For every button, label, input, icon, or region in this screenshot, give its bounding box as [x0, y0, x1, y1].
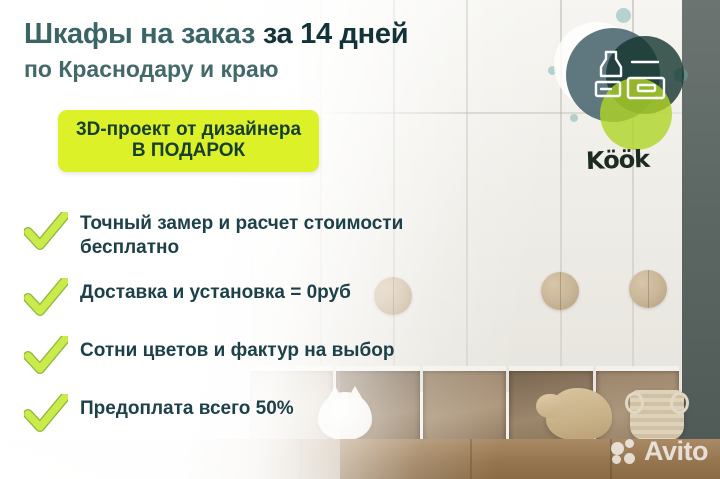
decorative-dot	[570, 114, 578, 122]
logo-wordmark: Köök	[586, 145, 650, 175]
headline-main: Шкафы на заказ	[24, 18, 263, 50]
avito-watermark: Avito	[611, 438, 708, 465]
advertisement-banner: Шкафы на заказ за 14 дней по Краснодару …	[0, 0, 720, 479]
decorative-dot	[616, 8, 631, 23]
headline-accent: за 14 дней	[263, 18, 408, 50]
list-item: Предоплата всего 50%	[24, 394, 494, 436]
avito-label: Avito	[644, 438, 708, 465]
badge-line-1: 3D-проект от дизайнера	[76, 119, 301, 140]
check-icon	[24, 212, 68, 252]
list-item-label: Сотни цветов и фактур на выбор	[80, 336, 494, 363]
avito-dots-icon	[611, 439, 637, 465]
furniture-cabinet-icon	[594, 48, 670, 106]
page-subtitle: по Краснодару и краю	[24, 56, 278, 83]
check-icon	[24, 278, 68, 318]
list-item: Точный замер и расчет стоимости бесплатн…	[24, 212, 494, 262]
benefits-list: Точный замер и расчет стоимости бесплатн…	[24, 212, 494, 452]
brand-logo: Köök	[548, 6, 708, 186]
check-icon	[24, 336, 68, 376]
check-icon	[24, 394, 68, 434]
gift-offer-badge: 3D-проект от дизайнера В ПОДАРОК	[58, 110, 319, 172]
badge-line-2: В ПОДАРОК	[76, 140, 301, 161]
list-item-label: Предоплата всего 50%	[80, 394, 494, 421]
list-item-label: Точный замер и расчет стоимости бесплатн…	[80, 212, 494, 259]
list-item: Доставка и установка = 0руб	[24, 278, 494, 320]
list-item-label: Доставка и установка = 0руб	[80, 278, 494, 305]
page-title: Шкафы на заказ за 14 дней	[24, 18, 408, 51]
list-item: Сотни цветов и фактур на выбор	[24, 336, 494, 378]
